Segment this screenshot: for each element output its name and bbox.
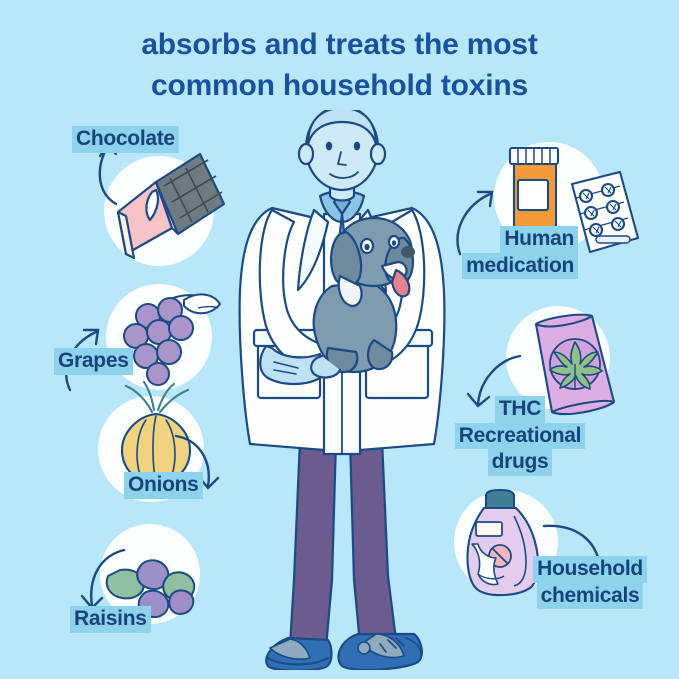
label-line: chemicals <box>537 583 644 610</box>
page-title: absorbs and treats the most common house… <box>0 24 679 107</box>
label-line: Human <box>500 226 578 253</box>
label-line: medication <box>462 253 578 280</box>
label-human-medication: Human medication <box>438 226 578 279</box>
veterinarian-illustration <box>228 110 458 675</box>
label-raisins: Raisins <box>70 606 151 633</box>
label-line: Chocolate <box>72 126 179 153</box>
label-line: Raisins <box>70 606 151 633</box>
label-household-chemicals: Household chemicals <box>510 556 670 609</box>
label-line: Grapes <box>54 348 133 375</box>
label-line: Onions <box>124 472 203 499</box>
label-line: THC <box>495 396 545 423</box>
label-chocolate: Chocolate <box>72 126 179 153</box>
infographic-canvas: absorbs and treats the most common house… <box>0 0 679 679</box>
label-line: drugs <box>488 449 553 476</box>
grapes-icon <box>108 286 228 396</box>
label-onions: Onions <box>124 472 203 499</box>
label-thc: THC Recreational drugs <box>440 396 600 476</box>
label-line: Recreational <box>455 423 585 450</box>
label-grapes: Grapes <box>54 348 133 375</box>
label-line: Household <box>533 556 647 583</box>
